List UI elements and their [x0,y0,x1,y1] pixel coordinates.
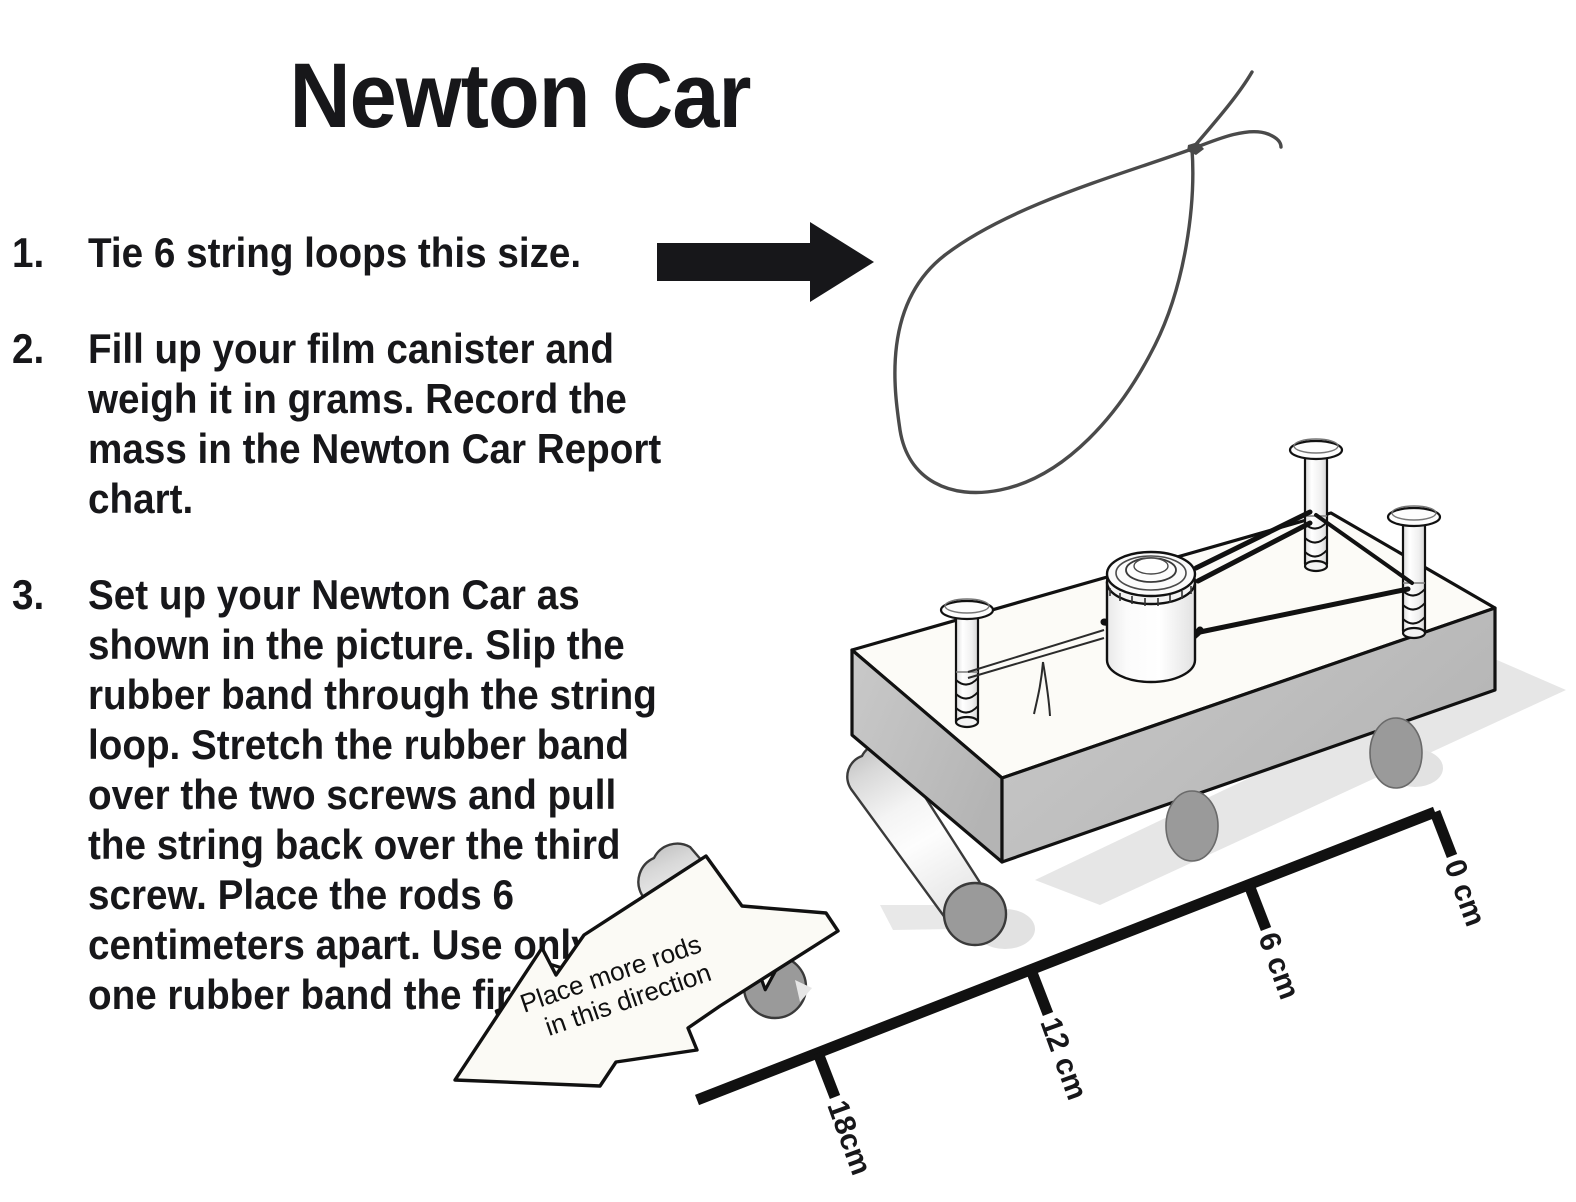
ruler-label-0: 0 cm [1437,855,1491,931]
ruler-tick-6 [1249,885,1266,929]
step-number: 3. [12,570,82,620]
rubber-band [1104,512,1412,645]
wooden-board [852,513,1495,862]
ruler-tick-0 [1435,812,1452,856]
film-canister [1107,552,1195,682]
screw-front-right [1388,506,1440,638]
step-text: Fill up your film canister and weigh it … [88,324,662,524]
string-loop-on-car [968,630,1104,716]
step-text: Set up your Newton Car as shown in the p… [88,570,662,1020]
instruction-step-2: 2. Fill up your film canister and weigh … [12,324,712,524]
step-number: 2. [12,324,82,374]
rod-back [847,744,1006,945]
screw-left [941,599,993,727]
slide-canvas: Newton Car 1. Tie 6 string loops this si… [0,0,1576,1202]
ruler-tick-18 [818,1053,835,1097]
instruction-step-3: 3. Set up your Newton Car as shown in th… [12,570,712,1020]
step-number: 1. [12,228,82,278]
diagram-shadows [880,660,1566,949]
instruction-step-1: 1. Tie 6 string loops this size. [12,228,712,278]
ruler-label-12: 12 cm [1033,1013,1093,1104]
rod-ends-under-board [1166,718,1422,861]
ruler-tick-12 [1031,970,1048,1014]
ruler: 0 cm 6 cm 12 cm 18cm [697,812,1492,1180]
ruler-label-6: 6 cm [1251,928,1305,1004]
ruler-label-18: 18cm [820,1096,877,1179]
page-title: Newton Car [42,48,999,144]
step-text: Tie 6 string loops this size. [88,228,662,278]
instruction-list: 1. Tie 6 string loops this size. 2. Fill… [12,228,712,1020]
screw-back-right [1290,439,1342,571]
